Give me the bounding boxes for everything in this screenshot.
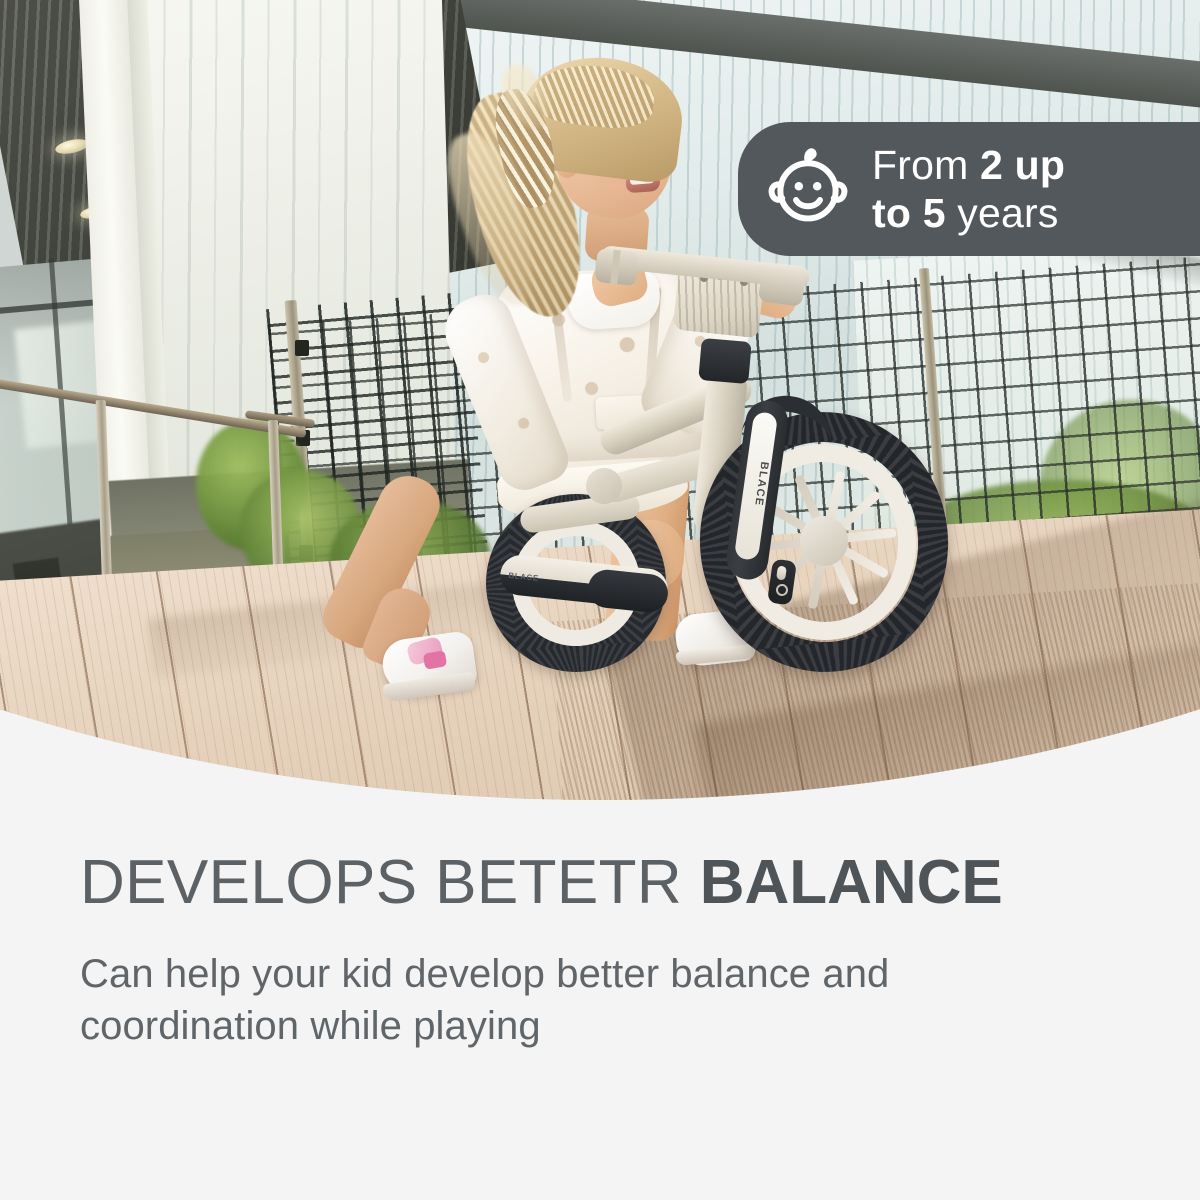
headset-collar: [698, 338, 751, 384]
headline-bold-part: BALANCE: [700, 848, 1003, 917]
baby-face-icon: [762, 143, 854, 235]
badge-from-label: From: [872, 142, 980, 188]
subtitle: Can help your kid develop better balance…: [80, 948, 1100, 1052]
copy-block: DEVELOPS BETETR BALANCE Can help your ki…: [80, 848, 1130, 1052]
hero-photo: BLACE BLACE: [0, 0, 1200, 800]
badge-age-max: to 5: [872, 190, 946, 236]
badge-years-label: years: [946, 190, 1059, 236]
bike-brand-text: BLACE: [754, 461, 770, 492]
balance-bike: BLACE BLACE: [0, 0, 1200, 800]
badge-age-min: 2 up: [980, 142, 1065, 188]
handlebar-grip-right: [758, 267, 806, 307]
age-range-badge: From 2 up to 5 years: [738, 122, 1200, 256]
headline-light-part: DEVELOPS BETETR: [80, 848, 700, 917]
page-title: DEVELOPS BETETR BALANCE: [80, 848, 1130, 918]
age-range-text: From 2 up to 5 years: [872, 141, 1065, 237]
product-feature-card: BLACE BLACE: [0, 0, 1200, 1200]
